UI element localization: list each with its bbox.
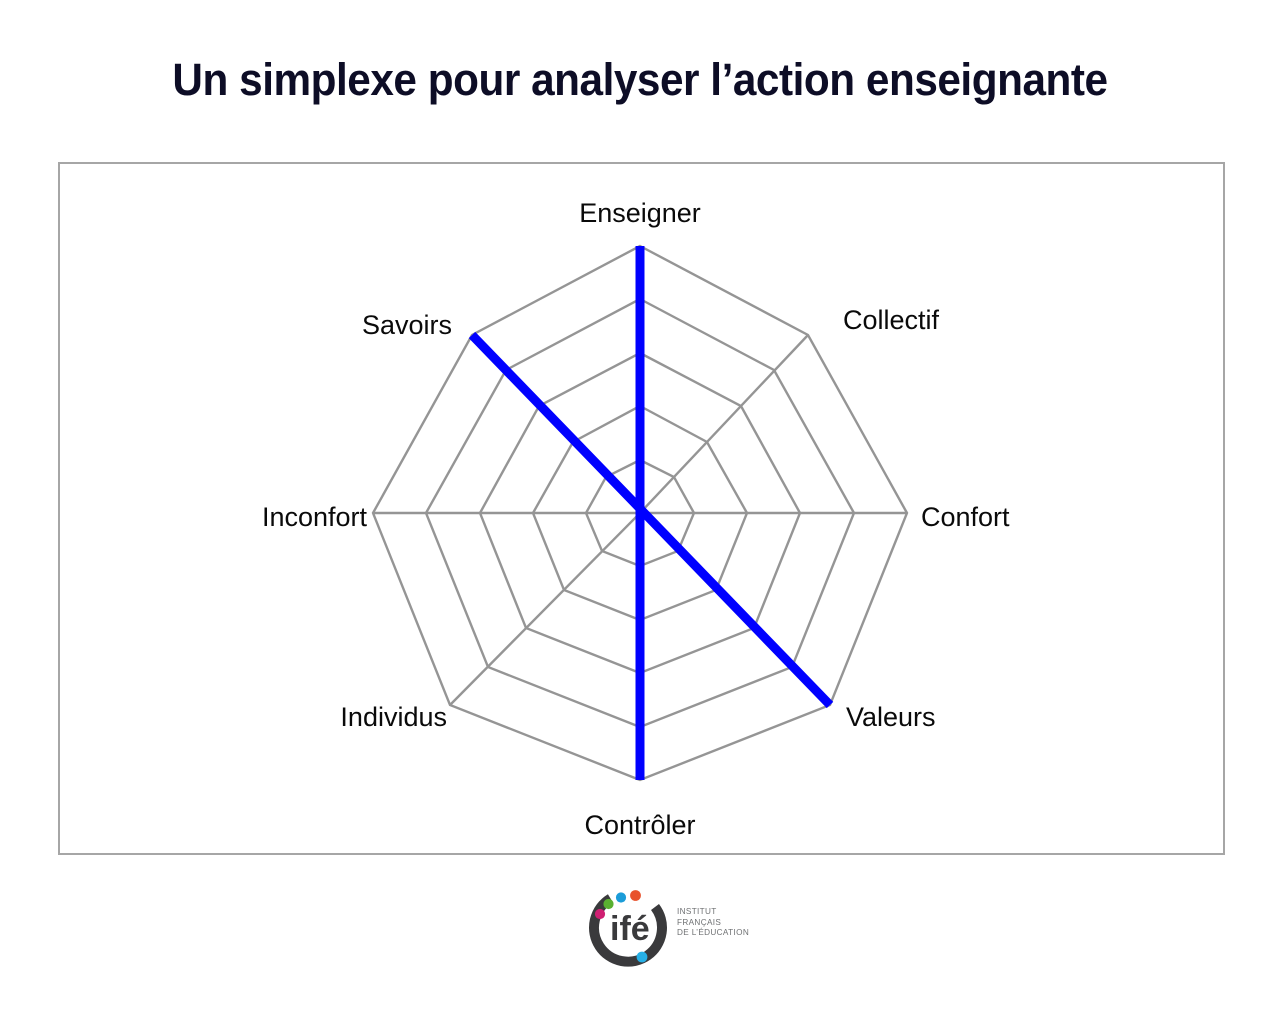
ife-logo-wordmark: INSTITUT FRANÇAIS DE L’ÉDUCATION — [677, 907, 749, 939]
axis-label-savoirs: Savoirs — [362, 310, 452, 340]
logo-dot-orange — [630, 890, 641, 901]
wordmark-line-1: INSTITUT — [677, 907, 749, 918]
page-title: Un simplexe pour analyser l’action ensei… — [38, 54, 1241, 106]
axis-label-individus: Individus — [340, 702, 447, 732]
wordmark-line-3: DE L’ÉDUCATION — [677, 928, 749, 939]
axis-label-inconfort: Inconfort — [262, 502, 368, 532]
axis-label-enseigner: Enseigner — [579, 198, 701, 228]
logo-dot-green — [603, 899, 613, 909]
logo-dot-cyan — [637, 952, 648, 963]
logo-dot-blue — [616, 892, 626, 902]
ife-logo: ifé INSTITUT FRANÇAIS DE L’ÉDUCATION — [585, 885, 755, 967]
wordmark-line-2: FRANÇAIS — [677, 918, 749, 929]
axis-label-valeurs: Valeurs — [846, 702, 936, 732]
logo-ife-text: ifé — [610, 910, 650, 948]
chart-frame: Enseigner Collectif Confort Valeurs Cont… — [58, 162, 1225, 855]
axis-label-controler: Contrôler — [584, 810, 695, 840]
series-line-savoirs-valeurs — [472, 335, 830, 705]
spoke-collectif — [640, 335, 808, 513]
radar-chart: Enseigner Collectif Confort Valeurs Cont… — [60, 164, 1227, 857]
ife-logo-mark: ifé — [585, 885, 675, 967]
axis-label-collectif: Collectif — [843, 305, 940, 335]
logo-dot-magenta — [595, 909, 605, 919]
axis-label-confort: Confort — [921, 502, 1010, 532]
